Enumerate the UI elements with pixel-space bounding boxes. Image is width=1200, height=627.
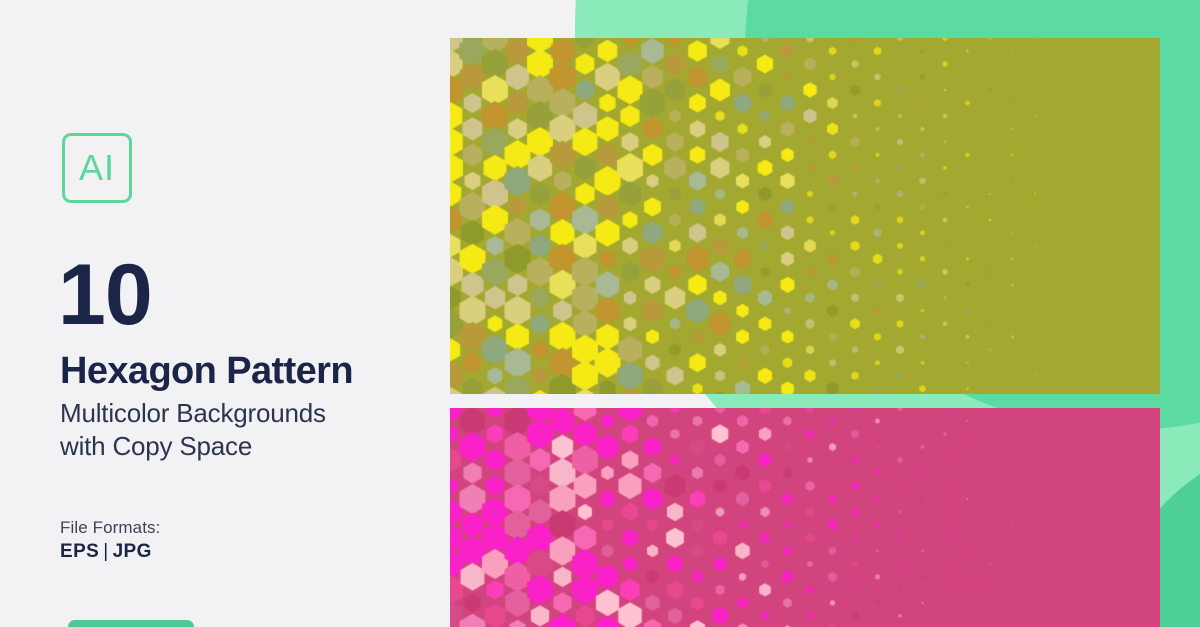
subtitle-line-1: Multicolor Backgrounds	[60, 397, 326, 430]
info-panel: AI 10 Hexagon Pattern Multicolor Backgro…	[0, 0, 450, 627]
product-banner: AI 10 Hexagon Pattern Multicolor Backgro…	[0, 0, 1200, 627]
file-format-jpg: JPG	[113, 541, 152, 562]
download-button[interactable]: Download	[68, 620, 194, 627]
subtitle-line-2: with Copy Space	[60, 430, 326, 463]
file-formats-value: EPS|JPG	[60, 541, 152, 563]
file-format-separator: |	[99, 541, 112, 562]
asset-count: 10	[58, 252, 152, 338]
subtitle: Multicolor Backgrounds with Copy Space	[60, 397, 326, 464]
ai-file-format-badge: AI	[62, 133, 132, 203]
preview-card-olive[interactable]	[450, 38, 1160, 394]
file-formats-label: File Formats:	[60, 518, 160, 538]
file-format-eps: EPS	[60, 541, 99, 562]
page-title: Hexagon Pattern	[60, 352, 353, 390]
preview-card-pink[interactable]	[450, 408, 1160, 627]
olive-hexagon-pattern-canvas	[450, 38, 1160, 394]
ai-badge-label: AI	[79, 150, 115, 186]
teal-right-band	[1160, 0, 1200, 627]
pink-hexagon-pattern-canvas	[450, 408, 1160, 627]
